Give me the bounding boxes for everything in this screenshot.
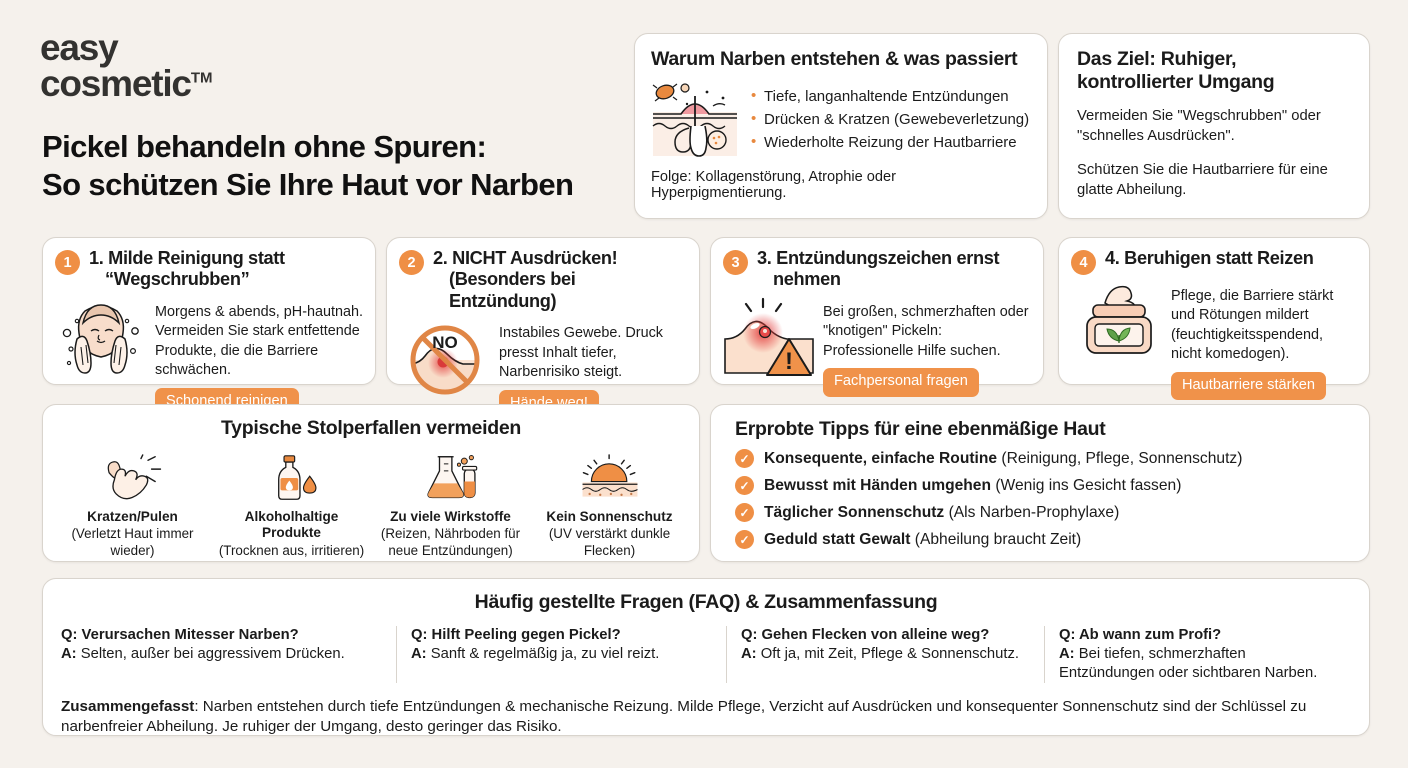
step-description-4: Pflege, die Barriere stärkt und Rötungen… xyxy=(1171,287,1357,365)
pitfall-item: Kein Sonnenschutz (UV verstärkt dunkle F… xyxy=(530,450,689,559)
why-bullet: Wiederholte Reizung der Hautbarriere xyxy=(751,132,1029,155)
step-number-badge-1: 1 xyxy=(55,250,80,275)
skin-cross-section-icon xyxy=(651,80,739,158)
step-description-1: Morgens & abends, pH-hautnah. Vermeiden … xyxy=(155,303,363,381)
step-title-line-1: 3. Entzündungszeichen ernst xyxy=(757,248,999,269)
faq-item: Q: Hilft Peeling gegen Pickel? A: Sanft … xyxy=(396,626,726,683)
brand-line-2: cosmeticTM xyxy=(40,66,212,102)
pitfall-note: (Reizen, Nährboden für neue Entzündungen… xyxy=(375,526,526,559)
check-icon: ✓ xyxy=(735,530,754,549)
step-title-1: 1. Milde Reinigung statt “Wegschrubben” xyxy=(89,248,285,291)
why-scars-footnote: Folge: Kollagenstörung, Atrophie oder Hy… xyxy=(651,169,1031,201)
pitfall-label: Kein Sonnenschutz xyxy=(534,509,685,525)
step-number-badge-4: 4 xyxy=(1071,250,1096,275)
why-scars-card: Warum Narben entstehen & was passiert xyxy=(634,33,1048,219)
check-icon: ✓ xyxy=(735,476,754,495)
step-badge-4[interactable]: Hautbarriere stärken xyxy=(1171,372,1326,401)
face-washing-icon xyxy=(55,295,147,379)
check-icon: ✓ xyxy=(735,449,754,468)
step-badge-3[interactable]: Fachpersonal fragen xyxy=(823,368,979,397)
pitfall-note: (Verletzt Haut immer wieder) xyxy=(57,526,208,559)
step-number-badge-3: 3 xyxy=(723,250,748,275)
pitfall-note: (UV verstärkt dunkle Flecken) xyxy=(534,526,685,559)
why-scars-title: Warum Narben entstehen & was passiert xyxy=(651,48,1031,71)
faq-question: Q: Ab wann zum Profi? xyxy=(1059,626,1337,645)
step-title-line-1: 1. Milde Reinigung statt xyxy=(89,248,285,269)
step-title-line-1: 2. NICHT Ausdrücken! xyxy=(433,248,687,269)
goal-card-title: Das Ziel: Ruhiger, kontrollierter Umgang xyxy=(1077,48,1351,94)
faq-answer: A: Sanft & regelmäßig ja, zu viel reizt. xyxy=(411,645,712,664)
tip-strong: Bewusst mit Händen umgehen xyxy=(764,477,991,494)
step-description-2: Instabiles Gewebe. Druck presst Inhalt t… xyxy=(499,324,687,382)
why-bullet: Drücken & Kratzen (Gewebeverletzung) xyxy=(751,109,1029,132)
page-title: Pickel behandeln ohne Spuren: So schütze… xyxy=(42,128,622,204)
pitfall-item: Alkoholhaltige Produkte (Trocknen aus, i… xyxy=(212,450,371,559)
step-card-3: 3 3. Entzündungszeichen ernst nehmen ! xyxy=(710,237,1044,385)
brand-logo: easy cosmeticTM xyxy=(40,30,212,103)
tip-strong: Konsequente, einfache Routine xyxy=(764,450,997,467)
goal-title-line-2: kontrollierter Umgang xyxy=(1077,71,1274,93)
step-title-3: 3. Entzündungszeichen ernst nehmen xyxy=(757,248,999,291)
summary-text: : Narben entstehen durch tiefe Entzündun… xyxy=(61,698,1306,736)
faq-answer-label: A: xyxy=(61,646,77,662)
tip-item: ✓ Bewusst mit Händen umgehen (Wenig ins … xyxy=(735,476,1369,495)
faq-question: Q: Hilft Peeling gegen Pickel? xyxy=(411,626,712,645)
tips-card: Erprobte Tipps für eine ebenmäßige Haut … xyxy=(710,404,1370,562)
step-card-4: 4 4. Beruhigen statt Reizen Pflege, die … xyxy=(1058,237,1370,385)
tip-rest: (Reinigung, Pflege, Sonnenschutz) xyxy=(997,450,1242,467)
why-bullet: Tiefe, langanhaltende Entzündungen xyxy=(751,86,1029,109)
tip-item: ✓ Konsequente, einfache Routine (Reinigu… xyxy=(735,449,1369,468)
pitfall-note: (Trocknen aus, irritieren) xyxy=(216,543,367,559)
faq-answer-label: A: xyxy=(1059,646,1075,662)
svg-text:!: ! xyxy=(785,348,793,375)
step-card-1: 1 1. Milde Reinigung statt “Wegschrubben… xyxy=(42,237,376,385)
faq-answer-text: Bei tiefen, schmerzhaften Entzündungen o… xyxy=(1059,646,1317,681)
inflamed-pimple-warning-icon: ! xyxy=(723,295,815,379)
step-card-2: 2 2. NICHT Ausdrücken! (Besonders bei En… xyxy=(386,237,700,385)
sun-no-protection-icon xyxy=(534,450,685,502)
headline-line-2: So schützen Sie Ihre Haut vor Narben xyxy=(42,167,573,202)
faq-item: Q: Gehen Flecken von alleine weg? A: Oft… xyxy=(726,626,1044,683)
faq-answer: A: Oft ja, mit Zeit, Pflege & Sonnenschu… xyxy=(741,645,1030,664)
pitfalls-card: Typische Stolperfallen vermeiden Kratzen… xyxy=(42,404,700,562)
headline-line-1: Pickel behandeln ohne Spuren: xyxy=(42,129,486,164)
faq-item: Q: Verursachen Mitesser Narben? A: Selte… xyxy=(61,626,396,683)
summary-label: Zusammengefasst xyxy=(61,698,194,715)
pitfall-item: Kratzen/Pulen (Verletzt Haut immer wiede… xyxy=(53,450,212,559)
tip-item: ✓ Geduld statt Gewalt (Abheilung braucht… xyxy=(735,530,1369,549)
pitfall-label: Kratzen/Pulen xyxy=(57,509,208,525)
alcohol-bottle-icon xyxy=(216,450,367,502)
step-title-line-2: “Wegschrubben” xyxy=(89,269,285,290)
tips-list: ✓ Konsequente, einfache Routine (Reinigu… xyxy=(735,449,1369,549)
tips-title: Erprobte Tipps für eine ebenmäßige Haut xyxy=(735,418,1369,441)
tip-strong: Geduld statt Gewalt xyxy=(764,531,910,548)
tip-rest: (Abheilung braucht Zeit) xyxy=(910,531,1081,548)
goal-title-line-1: Das Ziel: Ruhiger, xyxy=(1077,48,1236,70)
tip-rest: (Als Narben-Prophylaxe) xyxy=(944,504,1119,521)
tip-rest: (Wenig ins Gesicht fassen) xyxy=(991,477,1181,494)
step-title-line-2: nehmen xyxy=(757,269,999,290)
pitfall-label: Alkoholhaltige Produkte xyxy=(216,509,367,542)
trademark-symbol: TM xyxy=(191,70,213,87)
tip-strong: Täglicher Sonnenschutz xyxy=(764,504,944,521)
svg-text:NO: NO xyxy=(432,333,458,352)
pitfalls-title: Typische Stolperfallen vermeiden xyxy=(53,417,689,440)
goal-card: Das Ziel: Ruhiger, kontrollierter Umgang… xyxy=(1058,33,1370,219)
faq-answer-text: Selten, außer bei aggressivem Drücken. xyxy=(77,646,345,662)
faq-question: Q: Gehen Flecken von alleine weg? xyxy=(741,626,1030,645)
pitfall-item: Zu viele Wirkstoffe (Reizen, Nährboden f… xyxy=(371,450,530,559)
brand-word-cosmetic: cosmetic xyxy=(40,63,191,104)
step-number-badge-2: 2 xyxy=(399,250,424,275)
faq-answer-text: Sanft & regelmäßig ja, zu viel reizt. xyxy=(427,646,660,662)
faq-answer: A: Bei tiefen, schmerzhaften Entzündunge… xyxy=(1059,645,1337,683)
step-title-line-2: (Besonders bei Entzündung) xyxy=(433,269,687,312)
goal-paragraph-2: Schützen Sie die Hautbarriere für eine g… xyxy=(1077,160,1351,201)
step-title-line-1: 4. Beruhigen statt Reizen xyxy=(1105,248,1314,269)
faq-answer-label: A: xyxy=(411,646,427,662)
faq-answer: A: Selten, außer bei aggressivem Drücken… xyxy=(61,645,382,664)
faq-summary: Zusammengefasst: Narben entstehen durch … xyxy=(61,697,1351,738)
faq-question: Q: Verursachen Mitesser Narben? xyxy=(61,626,382,645)
pitfall-label: Zu viele Wirkstoffe xyxy=(375,509,526,525)
faq-item: Q: Ab wann zum Profi? A: Bei tiefen, sch… xyxy=(1044,626,1351,683)
brand-line-1: easy xyxy=(40,30,212,66)
goal-paragraph-1: Vermeiden Sie "Wegschrubben" oder "schne… xyxy=(1077,106,1351,147)
step-description-3: Bei großen, schmerzhaften oder "knotigen… xyxy=(823,303,1031,361)
check-icon: ✓ xyxy=(735,503,754,522)
scratching-hand-icon xyxy=(57,450,208,502)
faq-title: Häufig gestellte Fragen (FAQ) & Zusammen… xyxy=(61,591,1351,614)
faq-answer-text: Oft ja, mit Zeit, Pflege & Sonnenschutz. xyxy=(757,646,1019,662)
step-title-2: 2. NICHT Ausdrücken! (Besonders bei Entz… xyxy=(433,248,687,312)
cream-jar-icon xyxy=(1071,279,1163,363)
no-squeezing-icon: NO xyxy=(399,316,491,400)
faq-answer-label: A: xyxy=(741,646,757,662)
infographic-page: easy cosmeticTM Pickel behandeln ohne Sp… xyxy=(0,0,1408,768)
step-title-4: 4. Beruhigen statt Reizen xyxy=(1105,248,1314,269)
why-scars-bullet-list: Tiefe, langanhaltende Entzündungen Drück… xyxy=(751,86,1029,154)
flask-tube-icon xyxy=(375,450,526,502)
faq-card: Häufig gestellte Fragen (FAQ) & Zusammen… xyxy=(42,578,1370,736)
tip-item: ✓ Täglicher Sonnenschutz (Als Narben-Pro… xyxy=(735,503,1369,522)
